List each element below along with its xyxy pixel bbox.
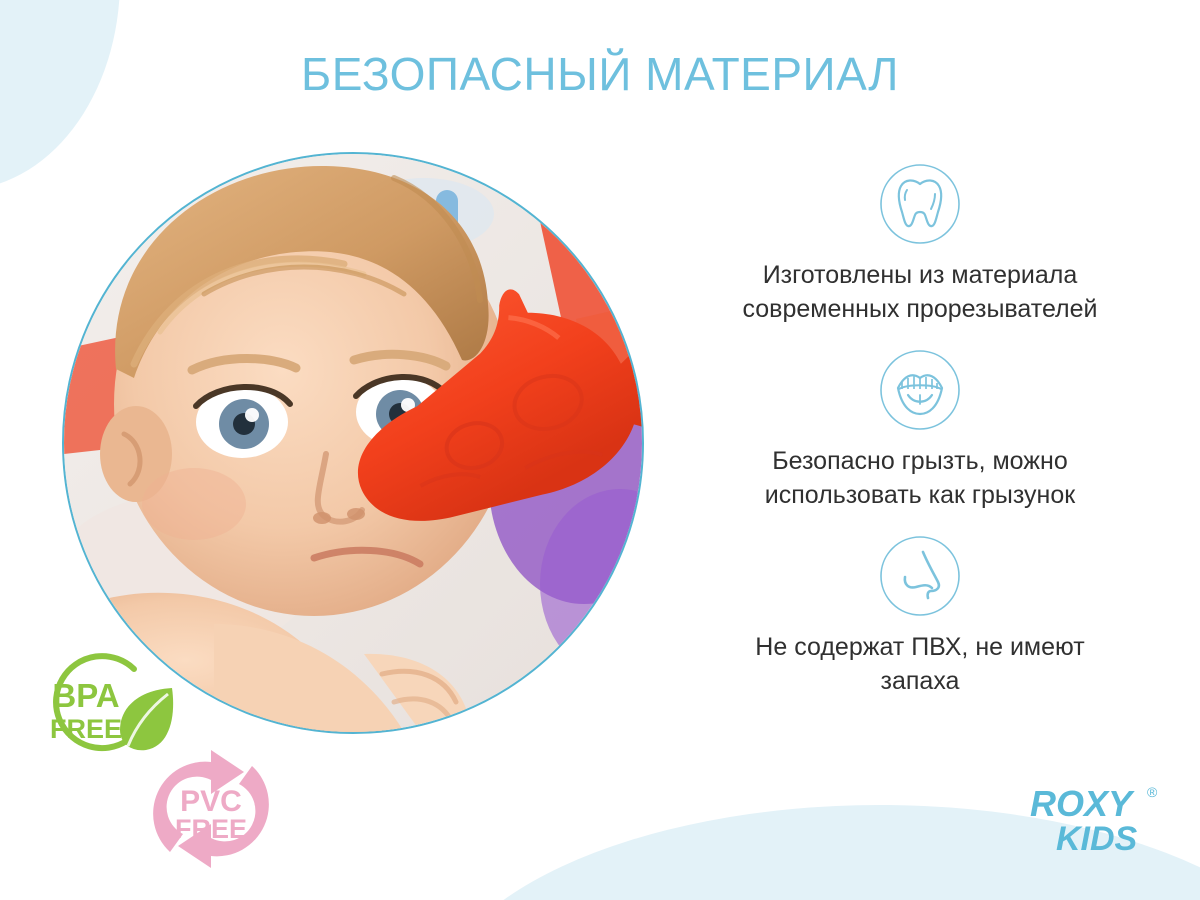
roxy-kids-logo: ROXY ® KIDS [1028, 780, 1168, 858]
logo-trademark: ® [1147, 784, 1158, 800]
feature-item-nose: Не содержат ПВХ, не имеют запаха [660, 534, 1180, 698]
tooth-icon [878, 162, 962, 246]
feature-text-nose-line1: Не содержат ПВХ, не имеют [694, 630, 1146, 664]
hero-photo-circle [62, 152, 644, 734]
feature-text-mouth-line2: использовать как грызунок [694, 478, 1146, 512]
nose-icon [878, 534, 962, 618]
feature-text-nose: Не содержат ПВХ, не имеют запаха [660, 630, 1180, 698]
feature-item-mouth: Безопасно грызть, можно использовать как… [660, 348, 1180, 512]
feature-text-mouth: Безопасно грызть, можно использовать как… [660, 444, 1180, 512]
bpa-badge-line2: FREE [50, 714, 122, 744]
feature-text-tooth-line2: современных прорезывателей [694, 292, 1146, 326]
bpa-badge-line1: BPA [52, 677, 119, 714]
feature-text-mouth-line1: Безопасно грызть, можно [694, 444, 1146, 478]
page-title: БЕЗОПАСНЫЙ МАТЕРИАЛ [0, 46, 1200, 102]
slide-canvas: БЕЗОПАСНЫЙ МАТЕРИАЛ [0, 0, 1200, 900]
feature-item-tooth: Изготовлены из материала современных про… [660, 162, 1180, 326]
logo-line2: KIDS [1056, 820, 1138, 858]
feature-text-tooth: Изготовлены из материала современных про… [660, 258, 1180, 326]
feature-text-nose-line2: запаха [694, 664, 1146, 698]
feature-text-tooth-line1: Изготовлены из материала [694, 258, 1146, 292]
feature-list: Изготовлены из материала современных про… [660, 162, 1180, 720]
logo-line1: ROXY [1030, 783, 1135, 824]
pvc-free-badge: PVC FREE [140, 738, 282, 880]
hero-photo-image [64, 154, 642, 732]
mouth-icon [878, 348, 962, 432]
pvc-badge-line2: FREE [175, 814, 247, 844]
